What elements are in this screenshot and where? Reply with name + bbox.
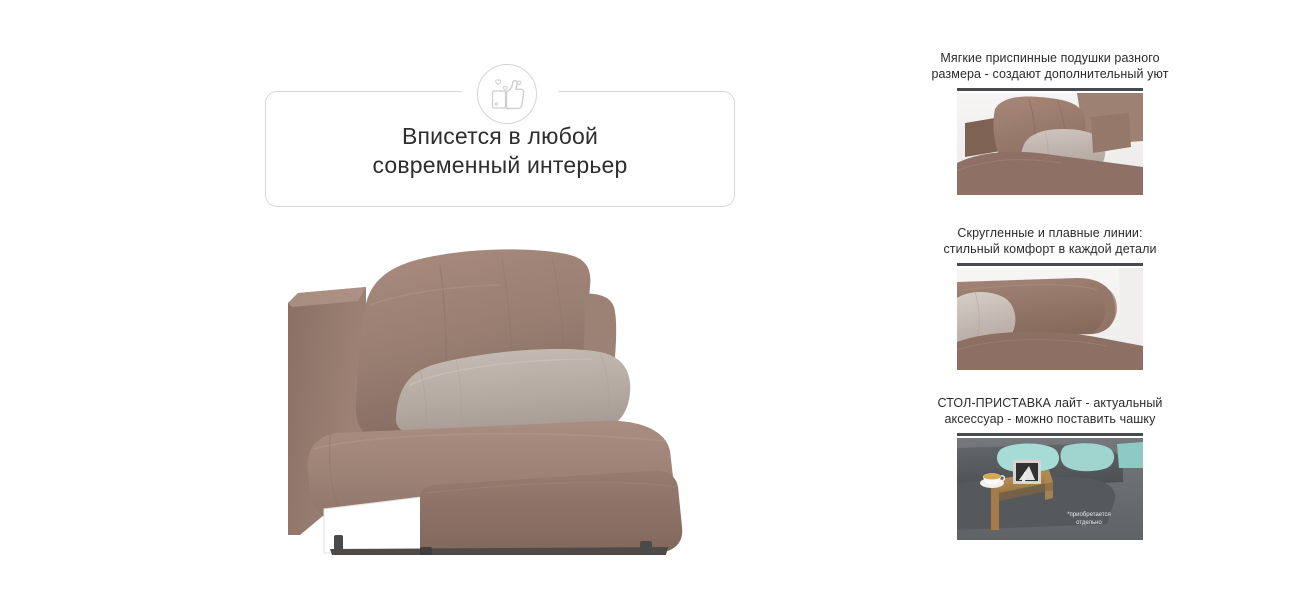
sofa-rounded-armrest-photo bbox=[957, 268, 1143, 370]
feature-divider-2 bbox=[957, 263, 1143, 266]
side-table-with-cup-photo: *приобретается отдельно bbox=[957, 438, 1143, 540]
svg-text:отдельно: отдельно bbox=[1076, 520, 1102, 526]
svg-text:*приобретается: *приобретается bbox=[1067, 512, 1111, 518]
feature-block-3: СТОЛ-ПРИСТАВКА лайт - актуальный аксессу… bbox=[905, 395, 1195, 540]
feature-block-1: Мягкие приспинные подушки разного размер… bbox=[905, 50, 1195, 195]
feature-caption-2: Скругленные и плавные линии: стильный ко… bbox=[905, 225, 1195, 257]
thumbs-up-hearts-icon bbox=[476, 63, 538, 125]
feature-divider-3 bbox=[957, 433, 1143, 436]
hero-product-image bbox=[270, 235, 730, 555]
feature-caption-1: Мягкие приспинные подушки разного размер… bbox=[905, 50, 1195, 82]
feature-block-2: Скругленные и плавные линии: стильный ко… bbox=[905, 225, 1195, 370]
feature-caption-3: СТОЛ-ПРИСТАВКА лайт - актуальный аксессу… bbox=[905, 395, 1195, 427]
sofa-back-cushions-photo bbox=[957, 93, 1143, 195]
banner-headline: Вписется в любой современный интерьер bbox=[265, 122, 735, 180]
feature-divider-1 bbox=[957, 88, 1143, 91]
